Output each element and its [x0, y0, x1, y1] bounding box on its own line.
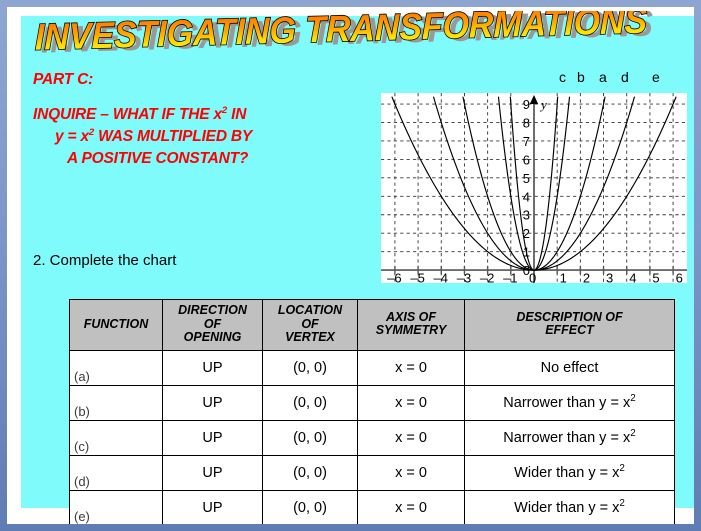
table-row: (e)UP(0, 0)x = 0Wider than y = x2: [70, 490, 675, 524]
table-row: (d)UP(0, 0)x = 0Wider than y = x2: [70, 455, 675, 490]
cell-loc[interactable]: (0, 0): [263, 455, 358, 490]
transformations-chart-table: FUNCTION DIRECTION OF OPENING LOCATION O…: [69, 299, 675, 524]
cell-description[interactable]: No effect: [465, 350, 675, 385]
presentation-slide: INVESTIGATING TRANSFORMATIONS INVESTIGAT…: [0, 0, 701, 531]
svg-text:0: 0: [529, 271, 536, 284]
cell-axis[interactable]: x = 0: [358, 490, 465, 524]
svg-text:3: 3: [606, 271, 613, 284]
svg-text:4: 4: [523, 189, 530, 204]
cell-function-e[interactable]: (e): [70, 490, 163, 524]
cell-function-d[interactable]: (d): [70, 455, 163, 490]
svg-text:y: y: [539, 97, 547, 112]
parabola-graph: –6–5–4–3–2–101234560123456789y: [381, 93, 687, 283]
table-row: (b)UP(0, 0)x = 0Narrower than y = x2: [70, 385, 675, 420]
cell-axis[interactable]: x = 0: [358, 350, 465, 385]
cell-description[interactable]: Narrower than y = x2: [465, 420, 675, 455]
curve-label-b: b: [577, 69, 585, 85]
inquire-line-2-tail: WAS MULTIPLIED BY: [94, 128, 252, 145]
inquire-line-2-text: y = x: [55, 128, 89, 145]
svg-text:2: 2: [583, 271, 590, 284]
cell-dir[interactable]: UP: [163, 455, 263, 490]
svg-text:3: 3: [523, 208, 530, 223]
cell-loc[interactable]: (0, 0): [263, 385, 358, 420]
cell-function-a[interactable]: (a): [70, 350, 163, 385]
column-header-function: FUNCTION: [70, 300, 163, 351]
inquire-line-3: A POSITIVE CONSTANT?: [67, 150, 248, 168]
curve-label-c: c: [559, 69, 566, 85]
svg-text:6: 6: [523, 152, 530, 167]
cell-dir[interactable]: UP: [163, 420, 263, 455]
cell-description-exponent: 2: [630, 393, 635, 404]
slide-canvas: INVESTIGATING TRANSFORMATIONS INVESTIGAT…: [7, 7, 694, 524]
svg-text:1: 1: [523, 245, 530, 260]
cell-description[interactable]: Wider than y = x2: [465, 490, 675, 524]
cell-function-c[interactable]: (c): [70, 420, 163, 455]
cell-description[interactable]: Wider than y = x2: [465, 455, 675, 490]
svg-text:2: 2: [523, 226, 530, 241]
svg-text:–5: –5: [410, 271, 424, 284]
inquire-line-1: INQUIRE – WHAT IF THE x2 IN: [33, 106, 246, 124]
instruction-text: 2. Complete the chart: [33, 252, 176, 269]
svg-text:–3: –3: [457, 271, 471, 284]
svg-text:7: 7: [523, 134, 530, 149]
cell-description-exponent: 2: [630, 428, 635, 439]
cell-function-b[interactable]: (b): [70, 385, 163, 420]
column-header-direction: DIRECTION OF OPENING: [163, 300, 263, 351]
cell-dir[interactable]: UP: [163, 350, 263, 385]
cell-dir[interactable]: UP: [163, 385, 263, 420]
cell-description[interactable]: Narrower than y = x2: [465, 385, 675, 420]
curve-label-a: a: [599, 69, 607, 85]
cell-axis[interactable]: x = 0: [358, 420, 465, 455]
table-body: (a)UP(0, 0)x = 0No effect(b)UP(0, 0)x = …: [70, 350, 675, 524]
svg-text:1: 1: [560, 271, 567, 284]
svg-text:9: 9: [523, 97, 530, 112]
table-row: (a)UP(0, 0)x = 0No effect: [70, 350, 675, 385]
column-header-axis: AXIS OF SYMMETRY: [358, 300, 465, 351]
cell-axis[interactable]: x = 0: [358, 385, 465, 420]
table-row: (c)UP(0, 0)x = 0Narrower than y = x2: [70, 420, 675, 455]
cell-loc[interactable]: (0, 0): [263, 490, 358, 524]
svg-text:–1: –1: [503, 271, 517, 284]
svg-text:–6: –6: [387, 271, 401, 284]
part-label: PART C:: [33, 71, 93, 89]
cell-loc[interactable]: (0, 0): [263, 350, 358, 385]
cell-description-exponent: 2: [619, 498, 624, 509]
cell-dir[interactable]: UP: [163, 490, 263, 524]
curve-label-e: e: [652, 69, 660, 85]
svg-text:5: 5: [652, 271, 659, 284]
column-header-effect: DESCRIPTION OF EFFECT: [465, 300, 675, 351]
cell-description-exponent: 2: [619, 463, 624, 474]
svg-text:6: 6: [676, 271, 683, 284]
svg-text:5: 5: [523, 171, 530, 186]
svg-text:8: 8: [523, 116, 530, 131]
svg-text:–4: –4: [434, 271, 448, 284]
curve-label-d: d: [621, 69, 629, 85]
svg-text:0: 0: [523, 263, 530, 278]
inquire-line-1-tail: IN: [227, 106, 246, 123]
cell-loc[interactable]: (0, 0): [263, 420, 358, 455]
table-header-row: FUNCTION DIRECTION OF OPENING LOCATION O…: [70, 300, 675, 351]
inquire-line-2: y = x2 WAS MULTIPLIED BY: [55, 128, 252, 146]
svg-text:4: 4: [629, 271, 636, 284]
inquire-line-1-text: INQUIRE – WHAT IF THE x: [33, 106, 222, 123]
column-header-vertex: LOCATION OF VERTEX: [263, 300, 358, 351]
svg-text:–2: –2: [480, 271, 494, 284]
cell-axis[interactable]: x = 0: [358, 455, 465, 490]
